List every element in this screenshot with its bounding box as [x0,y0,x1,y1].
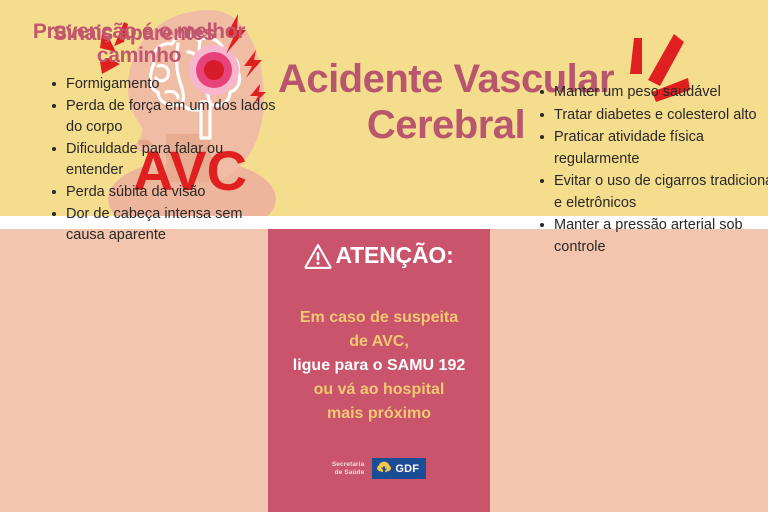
list-item: Evitar o uso de cigarros tradicionais e … [540,171,768,214]
list-item: Perda de força em um dos lados do corpo [52,96,277,138]
government-logo: Secretaria de Saúde GDF [268,458,490,479]
secretaria-label-line-2: de Saúde [332,469,364,477]
list-item: Tratar diabetes e colesterol alto [540,105,768,127]
warning-triangle-icon [304,243,332,269]
secretaria-label: Secretaria de Saúde [332,461,364,477]
alert-label: ATENÇÃO: [335,242,453,269]
alert-message-line: mais próximo [268,402,490,426]
alert-message-line: ou vá ao hospital [268,378,490,402]
signs-panel [0,229,268,512]
secretaria-label-line-1: Secretaria [332,461,364,469]
prevention-heading-line-1: Prevenção é o melhor [8,20,270,44]
avc-infographic: AVC Acidente Vascular Cerebral Sinais ap… [0,0,768,512]
signs-list: Formigamento Perda de força em um dos la… [30,74,277,247]
prevention-panel [490,229,768,512]
list-item: Manter a pressão arterial sob controle [540,215,768,258]
prevention-heading-line-2: caminho [8,44,270,68]
list-item: Formigamento [52,74,277,95]
alert-message-line: ligue para o SAMU 192 [268,354,490,378]
gdf-label: GDF [395,463,419,475]
list-item: Dificuldade para falar ou entender [52,139,277,181]
alert-message-line: Em caso de suspeita [268,306,490,330]
alert-message: Em caso de suspeita de AVC, ligue para o… [268,306,490,426]
gdf-badge: GDF [372,458,426,479]
list-item: Perda súbita da visão [52,182,277,203]
prevention-heading: Prevenção é o melhor caminho [8,20,270,68]
alert-message-line: de AVC, [268,330,490,354]
list-item: Praticar atividade física regularmente [540,127,768,170]
list-item: Manter um peso saudável [540,82,768,104]
prevention-list: Manter um peso saudável Tratar diabetes … [518,82,768,259]
alert-heading-row: ATENÇÃO: [268,242,490,269]
list-item: Dor de cabeça intensa sem causa aparente [52,204,277,246]
tree-icon [376,461,392,476]
